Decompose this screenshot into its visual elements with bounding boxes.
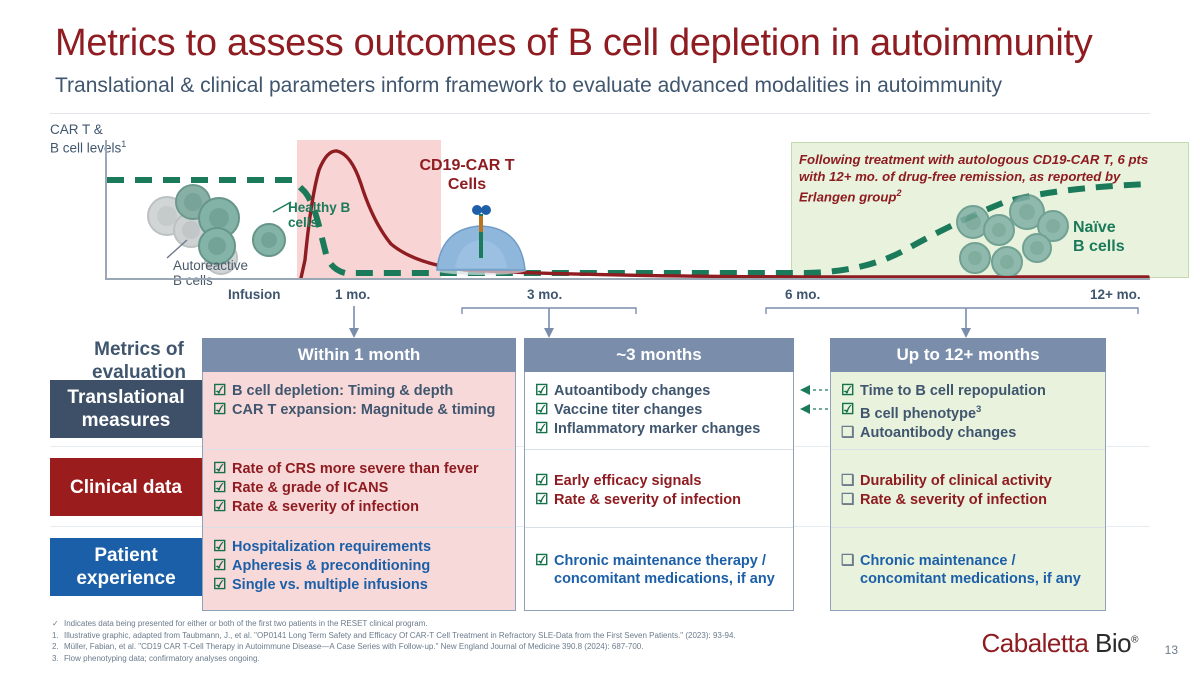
list-item[interactable]: ☑ CAR T expansion: Magnitude & timing xyxy=(213,401,507,419)
footnotes: ✓Indicates data being presented for eith… xyxy=(52,618,852,664)
bracket-12-months xyxy=(766,308,1138,314)
cell-within1-clinical: ☑ Rate of CRS more severe than fever ☑ R… xyxy=(203,450,515,528)
logo-bio: Bio xyxy=(1095,628,1131,658)
list-item-label: Time to B cell repopulation xyxy=(860,382,1097,400)
footnote-3: 3.Flow phenotyping data; confirmatory an… xyxy=(52,653,852,665)
check-icon: ☑ xyxy=(535,472,552,490)
footnote-2: 2.Müller, Fabian, et al. "CD19 CAR T-Cel… xyxy=(52,641,852,653)
footnote-checkmark: ✓Indicates data being presented for eith… xyxy=(52,618,852,630)
link-arrow-head-autoantibody xyxy=(800,385,810,395)
list-item-label: Rate & severity of infection xyxy=(554,491,785,509)
column-body-within-1-month: ☑ B cell depletion: Timing & depth ☑ CAR… xyxy=(202,372,516,611)
healthy-b-cells-label-line2: cells xyxy=(288,215,318,230)
row-label-patient-line2: experience xyxy=(76,568,175,589)
row-label-translational-line2: measures xyxy=(82,410,171,431)
list-item-label: Autoantibody changes xyxy=(554,382,785,400)
company-logo: Cabaletta Bio® xyxy=(982,628,1139,659)
list-item-label: Chronic maintenance therapy / concomitan… xyxy=(554,552,785,588)
check-icon: ☑ xyxy=(535,552,552,570)
cell-3mo-translational: ☑ Autoantibody changes ☑ Vaccine titer c… xyxy=(525,372,793,450)
column-body-12-months: ☑ Time to B cell repopulation ☑ B cell p… xyxy=(830,372,1106,611)
check-icon: ☑ xyxy=(213,479,230,497)
column-header-12-months: Up to 12+ months xyxy=(830,338,1106,372)
metrics-caption-line1: Metrics of xyxy=(94,339,184,360)
list-item[interactable]: ☑ Early efficacy signals xyxy=(535,472,785,490)
remission-callout-line1: Following treatment with autologous CD19… xyxy=(799,152,1148,167)
metrics-caption: Metrics of evaluation xyxy=(64,338,214,384)
check-icon: ☑ xyxy=(213,460,230,478)
check-icon: ☑ xyxy=(841,401,858,419)
list-item-label: Inflammatory marker changes xyxy=(554,420,785,438)
list-item[interactable]: ☑ Rate & grade of ICANS xyxy=(213,479,507,497)
column-header-3-months: ~3 months xyxy=(524,338,794,372)
list-item-label: Hospitalization requirements xyxy=(232,538,507,556)
list-item-label: CAR T expansion: Magnitude & timing xyxy=(232,401,507,419)
cell-within1-patient: ☑ Hospitalization requirements ☑ Apheres… xyxy=(203,528,515,610)
column-12-months: Up to 12+ months ☑ Time to B cell repopu… xyxy=(830,338,1106,611)
timeline-chart: CAR T & B cell levels1 xyxy=(50,122,1150,282)
list-item-label: Single vs. multiple infusions xyxy=(232,576,507,594)
column-header-within-1-month: Within 1 month xyxy=(202,338,516,372)
empty-checkbox-icon: ❑ xyxy=(841,552,858,570)
x-axis-line xyxy=(105,278,1150,280)
list-item-label: Rate & severity of infection xyxy=(232,498,507,516)
empty-checkbox-icon: ❑ xyxy=(841,424,858,442)
remission-callout: Following treatment with autologous CD19… xyxy=(799,152,1199,206)
footnote-marker: 3 xyxy=(976,404,981,415)
naive-b-cells-label: Naïve B cells xyxy=(1073,218,1125,256)
footnote-marker: ✓ xyxy=(52,618,64,630)
y-axis-line xyxy=(105,140,107,280)
page-title: Metrics to assess outcomes of B cell dep… xyxy=(55,22,1092,65)
cd19-car-t-label-line2: Cells xyxy=(448,176,486,193)
car-t-cell-icon xyxy=(425,198,535,278)
footnote-marker: 1. xyxy=(52,630,64,642)
footnote-marker: 3. xyxy=(52,653,64,665)
list-item-label: B cell depletion: Timing & depth xyxy=(232,382,507,400)
row-label-column: Translational measures Clinical data Pat… xyxy=(50,380,202,596)
healthy-b-cells-label-line1: Healthy B xyxy=(288,200,350,215)
cd19-car-t-label-line1: CD19-CAR T xyxy=(419,157,514,174)
list-item-label: Vaccine titer changes xyxy=(554,401,785,419)
empty-checkbox-icon: ❑ xyxy=(841,491,858,509)
cell-within1-translational: ☑ B cell depletion: Timing & depth ☑ CAR… xyxy=(203,372,515,450)
list-item[interactable]: ☑ Single vs. multiple infusions xyxy=(213,576,507,594)
cell-12mo-translational: ☑ Time to B cell repopulation ☑ B cell p… xyxy=(831,372,1105,450)
footnote-text: Illustrative graphic, adapted from Taubm… xyxy=(64,631,736,640)
check-icon: ☑ xyxy=(213,382,230,400)
footnote-text: Müller, Fabian, et al. "CD19 CAR T-Cell … xyxy=(64,642,643,651)
row-label-translational-measures: Translational measures xyxy=(50,380,202,438)
row-label-clinical-line1: Clinical data xyxy=(70,476,182,499)
footnote-text: Flow phenotyping data; confirmatory anal… xyxy=(64,654,260,663)
timeline-axis-ticks: Infusion 1 mo. 3 mo. 6 mo. 12+ mo. xyxy=(50,287,1150,305)
tick-3-months: 3 mo. xyxy=(527,287,562,302)
plot-area: CD19-CAR T Cells Naïve B cells Healthy B… xyxy=(105,140,1150,280)
list-item-label: Early efficacy signals xyxy=(554,472,785,490)
y-axis-label-line1: CAR T & xyxy=(50,122,103,137)
autoreactive-b-cells-leader-line xyxy=(165,238,191,260)
autoreactive-b-cells-label: Autoreactive B cells xyxy=(173,258,248,288)
check-icon: ☑ xyxy=(213,401,230,419)
list-item[interactable]: ☑ Rate & severity of infection xyxy=(213,498,507,516)
remission-callout-line3: Erlangen group xyxy=(799,189,896,204)
metrics-matrix: Metrics of evaluation Translational meas… xyxy=(50,338,1150,614)
list-item-label: B cell phenotype3 xyxy=(860,401,1097,423)
list-item[interactable]: ☑ Rate of CRS more severe than fever xyxy=(213,460,507,478)
check-icon: ☑ xyxy=(213,498,230,516)
list-item[interactable]: ☑ Hospitalization requirements xyxy=(213,538,507,556)
list-item-label: Apheresis & preconditioning xyxy=(232,557,507,575)
list-item[interactable]: ☑ Rate & severity of infection xyxy=(535,491,785,509)
check-icon: ☑ xyxy=(535,401,552,419)
arrow-head-col3 xyxy=(961,328,971,338)
page-number: 13 xyxy=(1165,643,1178,657)
footnote-1: 1.Illustrative graphic, adapted from Tau… xyxy=(52,630,852,642)
healthy-b-cells-label: Healthy B cells xyxy=(288,200,358,230)
remission-callout-footnote-marker: 2 xyxy=(896,188,901,198)
list-item[interactable]: ☑ B cell depletion: Timing & depth xyxy=(213,382,507,400)
row-label-patient-experience: Patient experience xyxy=(50,538,202,596)
connectors-svg xyxy=(50,304,1150,340)
list-item[interactable]: ☑ Chronic maintenance therapy / concomit… xyxy=(535,552,785,588)
list-item[interactable]: ☑ Apheresis & preconditioning xyxy=(213,557,507,575)
check-icon: ☑ xyxy=(535,491,552,509)
list-item[interactable]: ☑ Vaccine titer changes xyxy=(535,401,785,419)
list-item[interactable]: ❑ Rate & severity of infection xyxy=(841,491,1097,509)
check-icon: ☑ xyxy=(213,557,230,575)
column-body-3-months: ☑ Autoantibody changes ☑ Vaccine titer c… xyxy=(524,372,794,611)
list-item-label: Autoantibody changes xyxy=(860,424,1097,442)
list-item[interactable]: ❑ Durability of clinical activity xyxy=(841,472,1097,490)
list-item-label: Durability of clinical activity xyxy=(860,472,1097,490)
list-item[interactable]: ☑ B cell phenotype3 xyxy=(841,401,1097,423)
list-item-label: Chronic maintenance / concomitant medica… xyxy=(860,552,1097,588)
column-within-1-month: Within 1 month ☑ B cell depletion: Timin… xyxy=(202,338,516,611)
tick-1-month: 1 mo. xyxy=(335,287,370,302)
autoreactive-b-cells-label-line1: Autoreactive xyxy=(173,258,248,273)
timeline-connectors xyxy=(50,304,1150,340)
check-icon: ☑ xyxy=(213,576,230,594)
cell-12mo-patient: ❑ Chronic maintenance / concomitant medi… xyxy=(831,528,1105,610)
tick-6-months: 6 mo. xyxy=(785,287,820,302)
cell-12mo-clinical: ❑ Durability of clinical activity ❑ Rate… xyxy=(831,450,1105,528)
cell-3mo-patient: ☑ Chronic maintenance therapy / concomit… xyxy=(525,528,793,610)
check-icon: ☑ xyxy=(535,420,552,438)
naive-b-cells-label-line2: B cells xyxy=(1073,238,1125,255)
footnote-text: Indicates data being presented for eithe… xyxy=(64,619,428,628)
registered-trademark-icon: ® xyxy=(1131,634,1138,645)
list-item-label: Rate & grade of ICANS xyxy=(232,479,507,497)
list-item-label: Rate of CRS more severe than fever xyxy=(232,460,507,478)
row-label-clinical-data: Clinical data xyxy=(50,458,202,516)
healthy-b-cells-leader-line xyxy=(271,200,295,214)
empty-checkbox-icon: ❑ xyxy=(841,472,858,490)
arrow-head-col2 xyxy=(544,328,554,338)
header-divider xyxy=(50,113,1150,114)
naive-b-cells-label-line1: Naïve xyxy=(1073,219,1116,236)
column-3-months: ~3 months ☑ Autoantibody changes ☑ Vacci… xyxy=(524,338,794,611)
row-label-patient-line1: Patient xyxy=(94,545,157,566)
link-arrow-head-vaccine xyxy=(800,404,810,414)
tick-infusion: Infusion xyxy=(228,287,281,302)
list-item[interactable]: ❑ Autoantibody changes xyxy=(841,424,1097,442)
list-item[interactable]: ☑ Autoantibody changes xyxy=(535,382,785,400)
check-icon: ☑ xyxy=(213,538,230,556)
tick-12-months: 12+ mo. xyxy=(1090,287,1141,302)
arrow-head-col1 xyxy=(349,328,359,338)
check-icon: ☑ xyxy=(535,382,552,400)
cd19-car-t-label: CD19-CAR T Cells xyxy=(417,156,517,194)
footnote-marker: 2. xyxy=(52,641,64,653)
list-item[interactable]: ☑ Inflammatory marker changes xyxy=(535,420,785,438)
remission-callout-line2: with 12+ mo. of drug-free remission, as … xyxy=(799,169,1120,184)
list-item[interactable]: ❑ Chronic maintenance / concomitant medi… xyxy=(841,552,1097,588)
autoreactive-b-cells-label-line2: B cells xyxy=(173,273,213,288)
list-item-label: Rate & severity of infection xyxy=(860,491,1097,509)
cell-3mo-clinical: ☑ Early efficacy signals ☑ Rate & severi… xyxy=(525,450,793,528)
page-subtitle: Translational & clinical parameters info… xyxy=(55,74,1002,98)
check-icon: ☑ xyxy=(841,382,858,400)
row-label-translational-line1: Translational xyxy=(67,387,184,408)
logo-cabaletta: Cabaletta xyxy=(982,628,1089,658)
list-item[interactable]: ☑ Time to B cell repopulation xyxy=(841,382,1097,400)
